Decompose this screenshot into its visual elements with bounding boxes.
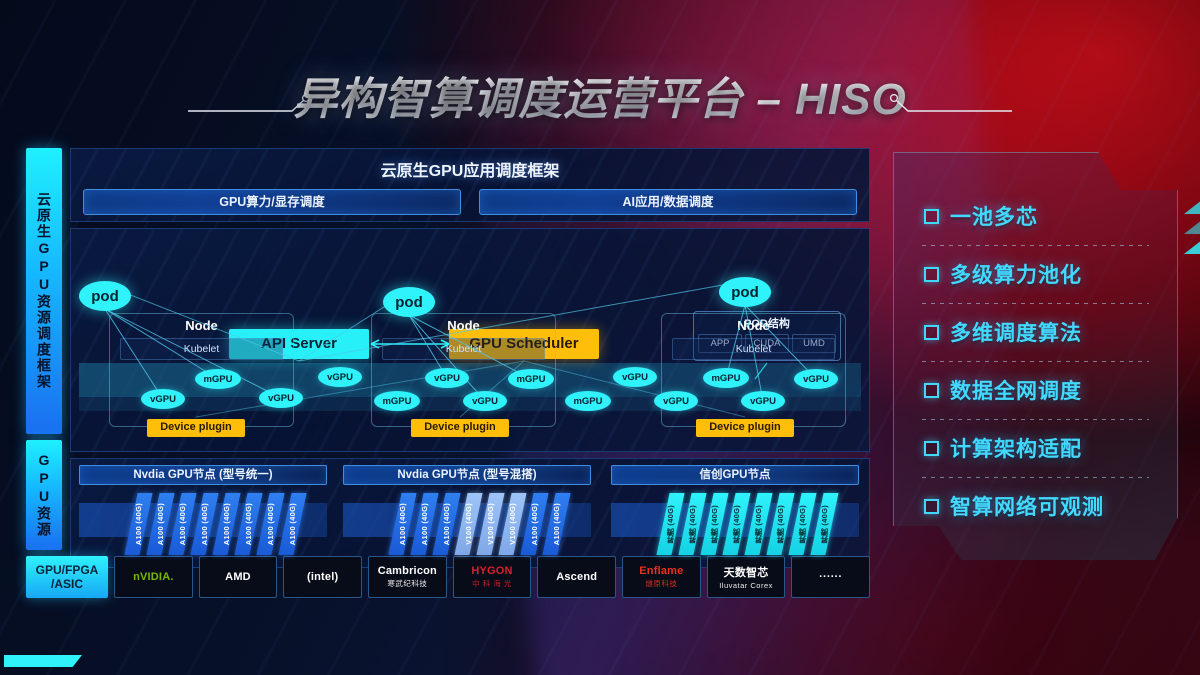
gpu-node-group: Nvdia GPU节点 (型号混搭)A100 (40G)A100 (40G)A1…: [343, 465, 591, 563]
vgpu-chip[interactable]: vGPU: [741, 391, 785, 411]
vendor-name: nVIDIA.: [133, 571, 174, 583]
vendor-subtitle: 寒武纪科技: [387, 578, 427, 589]
framework-title: 云原生GPU应用调度框架: [83, 157, 857, 181]
gpu-card-label: A100 (40G): [266, 503, 275, 545]
gpu-card-label: 昇腾 (40G): [775, 505, 786, 544]
checkbox-icon: [924, 209, 939, 224]
feature-item[interactable]: 多级算力池化: [894, 245, 1177, 303]
framework-panel: 云原生GPU应用调度框架 GPU算力/显存调度 AI应用/数据调度: [70, 148, 870, 222]
sidebar-tag-gpu-resources: GPU资源: [26, 440, 62, 550]
feature-label: 数据全网调度: [950, 375, 1082, 405]
gpu-group-title[interactable]: Nvdia GPU节点 (型号混搭): [343, 465, 591, 485]
feature-panel: 一池多芯多级算力池化多维调度算法数据全网调度计算架构适配智算网络可观测: [893, 152, 1178, 577]
checkbox-icon: [924, 499, 939, 514]
gpu-node-group: 信创GPU节点昇腾 (40G)昇腾 (40G)昇腾 (40G)昇腾 (40G)昇…: [611, 465, 859, 563]
gpu-card-label: 昇腾 (40G): [665, 505, 676, 544]
mgpu-chip[interactable]: mGPU: [374, 391, 420, 411]
vgpu-chip[interactable]: vGPU: [425, 368, 469, 388]
gpu-card-label: 昇腾 (40G): [709, 505, 720, 544]
mgpu-chip[interactable]: mGPU: [565, 391, 611, 411]
feature-item[interactable]: 计算架构适配: [894, 419, 1177, 477]
page-title: 异构智算调度运营平台 – HISO: [0, 64, 1200, 136]
device-plugin-box[interactable]: Device plugin: [147, 419, 245, 437]
pod-ellipse[interactable]: pod: [719, 277, 771, 307]
mgpu-chip[interactable]: mGPU: [703, 368, 749, 388]
panel-right-accent: [1176, 200, 1200, 274]
vgpu-chip[interactable]: vGPU: [463, 391, 507, 411]
gpu-card-label: A100 (40G): [398, 503, 407, 545]
feature-label: 计算架构适配: [950, 433, 1082, 463]
sidebar-tag-framework: 云原生GPU资源调度框架: [26, 148, 62, 434]
gpu-card-label: A100 (40G): [134, 503, 143, 545]
feature-label: 多级算力池化: [950, 259, 1082, 289]
main-board: 云原生GPU应用调度框架 GPU算力/显存调度 AI应用/数据调度 API Se…: [70, 148, 870, 568]
vendor-subtitle: Iluvatar Corex: [719, 581, 773, 590]
checkbox-icon: [924, 267, 939, 282]
device-plugin-box[interactable]: Device plugin: [696, 419, 794, 437]
gpu-card-label: A100 (40G): [552, 503, 561, 545]
gpu-card-label: 昇腾 (40G): [797, 505, 808, 544]
gpu-card-label: A100 (40G): [288, 503, 297, 545]
vgpu-chip[interactable]: vGPU: [259, 388, 303, 408]
gpu-card-label: A100 (40G): [156, 503, 165, 545]
gpu-card-label: A100 (40G): [222, 503, 231, 545]
gpu-card-label: A100 (40G): [420, 503, 429, 545]
gpu-card-label: A100 (40G): [244, 503, 253, 545]
mgpu-chip[interactable]: mGPU: [508, 369, 554, 389]
gpu-card-label: A100 (40G): [442, 503, 451, 545]
feature-label: 多维调度算法: [950, 317, 1082, 347]
pod-ellipse[interactable]: pod: [383, 287, 435, 317]
vendor-subtitle: 燧原科技: [645, 578, 677, 589]
vendor-name: Ascend: [556, 571, 597, 583]
gpu-group-title[interactable]: Nvdia GPU节点 (型号统一): [79, 465, 327, 485]
mgpu-chip[interactable]: mGPU: [195, 369, 241, 389]
feature-item[interactable]: 一池多芯: [894, 187, 1177, 245]
checkbox-icon: [924, 383, 939, 398]
vendor-name: 天数智芯: [724, 564, 769, 580]
vendor-name: HYGON: [471, 565, 512, 577]
vendor-name: (intel): [307, 571, 338, 583]
feature-label: 一池多芯: [950, 201, 1038, 231]
vgpu-chip[interactable]: vGPU: [794, 369, 838, 389]
gpu-card-label: A100 (40G): [200, 503, 209, 545]
panel-bottom-accent: [4, 655, 82, 667]
vendor-tag-line1: GPU/FPGA: [36, 563, 99, 577]
vgpu-chip[interactable]: vGPU: [654, 391, 698, 411]
checkbox-icon: [924, 441, 939, 456]
gpu-card-label: V100 (40G): [508, 503, 517, 545]
gpu-card-label: A100 (40G): [178, 503, 187, 545]
vgpu-chip[interactable]: vGPU: [141, 389, 185, 409]
vendor-name: ······: [819, 571, 842, 583]
gpu-card-rack: A100 (40G)A100 (40G)A100 (40G)V100 (40G)…: [343, 489, 591, 563]
gpu-node-group: Nvdia GPU节点 (型号统一)A100 (40G)A100 (40G)A1…: [79, 465, 327, 563]
slide-canvas: 异构智算调度运营平台 – HISO 云原生GPU资源调度框架 GPU资源 云原生…: [0, 0, 1200, 675]
gpu-card-label: A100 (40G): [530, 503, 539, 545]
vendor-name: Enflame: [639, 565, 683, 577]
gpu-card-label: V100 (40G): [464, 503, 473, 545]
vendor-tag-line2: /ASIC: [51, 577, 83, 591]
gpu-group-title[interactable]: 信创GPU节点: [611, 465, 859, 485]
framework-pill-row: GPU算力/显存调度 AI应用/数据调度: [83, 189, 857, 215]
gpu-card-label: V100 (40G): [486, 503, 495, 545]
title-area: 异构智算调度运营平台 – HISO: [0, 64, 1200, 136]
title-right-decoration: [888, 94, 1012, 116]
feature-label: 智算网络可观测: [950, 491, 1104, 521]
feature-item[interactable]: 数据全网调度: [894, 361, 1177, 419]
gpu-card-rack: A100 (40G)A100 (40G)A100 (40G)A100 (40G)…: [79, 489, 327, 563]
pill-gpu-compute[interactable]: GPU算力/显存调度: [83, 189, 461, 215]
checkbox-icon: [924, 325, 939, 340]
vgpu-chip[interactable]: vGPU: [318, 367, 362, 387]
scheduling-panel: API Server GPU Scheduler POD结构 APP CUDA …: [70, 228, 870, 452]
vendor-name: Cambricon: [378, 565, 437, 577]
gpu-card-label: 昇腾 (40G): [819, 505, 830, 544]
vendor-name: AMD: [225, 571, 251, 583]
gpu-card-label: 昇腾 (40G): [687, 505, 698, 544]
device-plugin-box[interactable]: Device plugin: [411, 419, 509, 437]
gpu-resources-panel: Nvdia GPU节点 (型号统一)A100 (40G)A100 (40G)A1…: [70, 458, 870, 568]
gpu-card-rack: 昇腾 (40G)昇腾 (40G)昇腾 (40G)昇腾 (40G)昇腾 (40G)…: [611, 489, 859, 563]
gpu-card-label: 昇腾 (40G): [731, 505, 742, 544]
pill-ai-data[interactable]: AI应用/数据调度: [479, 189, 857, 215]
feature-item[interactable]: 多维调度算法: [894, 303, 1177, 361]
gpu-card-label: 昇腾 (40G): [753, 505, 764, 544]
vgpu-chip[interactable]: vGPU: [613, 367, 657, 387]
vendor-subtitle: 中 科 海 光: [472, 578, 512, 589]
pod-ellipse[interactable]: pod: [79, 281, 131, 311]
